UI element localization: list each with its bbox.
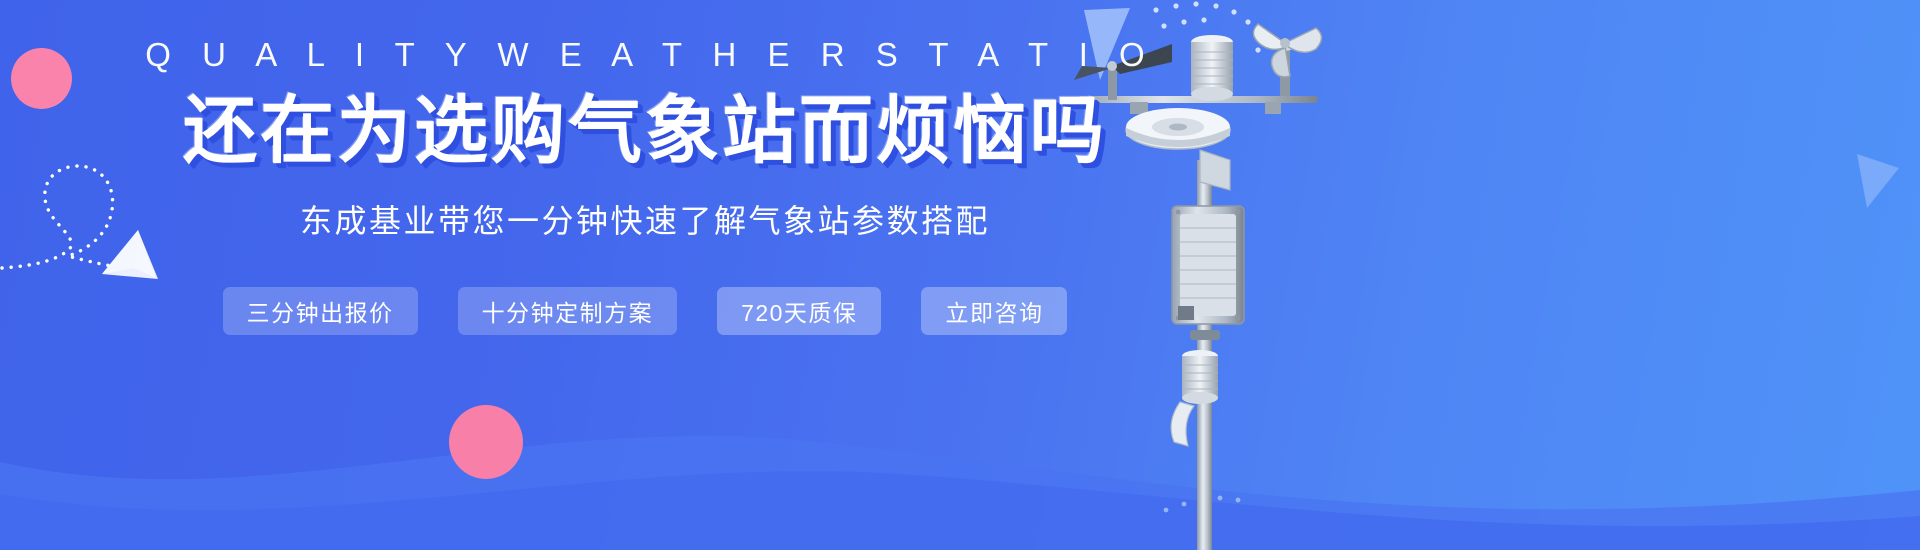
pill-warranty-720[interactable]: 720天质保 <box>717 287 881 335</box>
eyebrow-text: Q U A L I T Y W E A T H E R S T A T I O <box>134 36 1155 74</box>
pill-custom-10min[interactable]: 十分钟定制方案 <box>458 287 678 335</box>
triangle-small-right <box>1855 150 1901 212</box>
pill-quote-3min[interactable]: 三分钟出报价 <box>223 287 418 335</box>
banner-content: Q U A L I T Y W E A T H E R S T A T I O … <box>0 0 1290 550</box>
promo-banner: Q U A L I T Y W E A T H E R S T A T I O … <box>0 0 1920 550</box>
subtitle-text: 东成基业带您一分钟快速了解气象站参数搭配 <box>300 196 990 242</box>
pill-consult-now[interactable]: 立即咨询 <box>921 287 1067 335</box>
page-title: 还在为选购气象站而烦恼吗 <box>183 92 1107 170</box>
feature-pill-group: 三分钟出报价 十分钟定制方案 720天质保 立即咨询 <box>223 287 1068 335</box>
